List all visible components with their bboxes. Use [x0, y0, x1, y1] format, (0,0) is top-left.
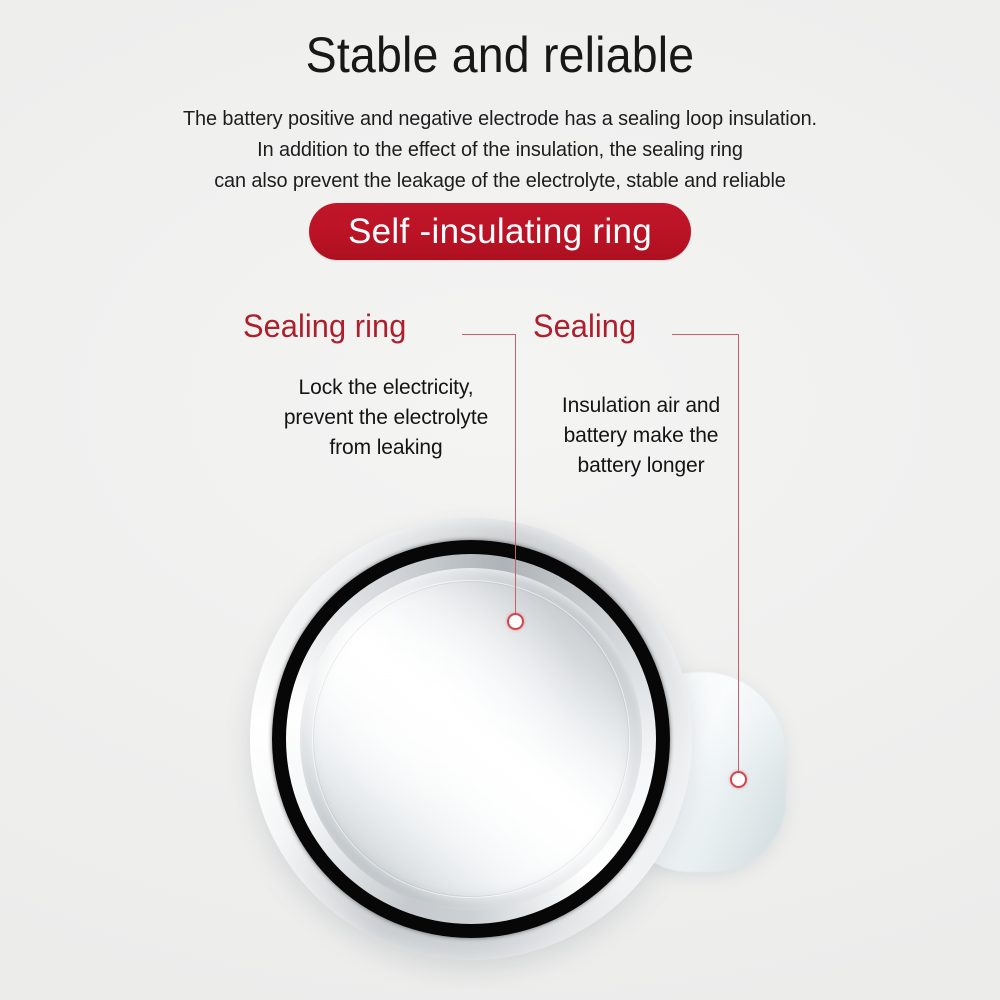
- desc-right-line-3: battery longer: [527, 451, 755, 481]
- desc-left-line-3: from leaking: [248, 433, 524, 463]
- leader-line-horizontal-sealing-ring: [462, 334, 516, 335]
- intro-line-1: The battery positive and negative electr…: [15, 103, 985, 134]
- target-dot-icon-sealing: [730, 771, 747, 788]
- leader-line-vertical-sealing-ring: [515, 334, 516, 616]
- desc-left-line-1: Lock the electricity,: [248, 373, 524, 403]
- callout-description-sealing: Insulation air and battery make the batt…: [527, 391, 755, 481]
- infographic-canvas: Stable and reliable The battery positive…: [0, 0, 1000, 1000]
- intro-line-2: In addition to the effect of the insulat…: [15, 134, 985, 165]
- coin-cell-battery-image: [250, 518, 692, 960]
- callout-description-sealing-ring: Lock the electricity, prevent the electr…: [248, 373, 524, 463]
- callout-label-sealing: Sealing: [533, 307, 636, 345]
- desc-right-line-1: Insulation air and: [527, 391, 755, 421]
- battery-face-groove: [312, 580, 630, 898]
- desc-right-line-2: battery make the: [527, 421, 755, 451]
- callout-label-sealing-ring: Sealing ring: [243, 307, 406, 345]
- intro-paragraph: The battery positive and negative electr…: [0, 103, 1000, 196]
- leader-line-vertical-sealing: [738, 334, 739, 774]
- intro-line-3: can also prevent the leakage of the elec…: [15, 165, 985, 196]
- desc-left-line-2: prevent the electrolyte: [248, 403, 524, 433]
- feature-banner: Self -insulating ring: [309, 203, 691, 260]
- page-title: Stable and reliable: [35, 22, 965, 88]
- target-dot-icon-sealing-ring: [507, 613, 524, 630]
- leader-line-horizontal-sealing: [672, 334, 739, 335]
